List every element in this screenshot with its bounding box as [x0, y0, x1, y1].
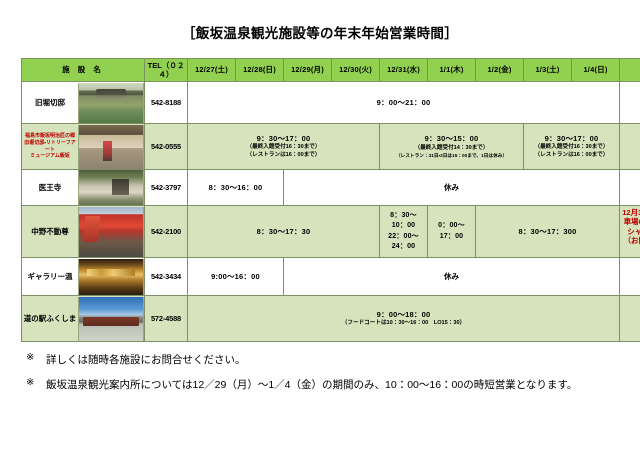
facility-tel: 542-3434: [145, 258, 188, 296]
hours-cell: 9：30～15：00（最終入館受付14：30まで）（レストラン：31日・2日は1…: [380, 124, 524, 170]
facility-name: 中野不動尊: [22, 227, 78, 236]
remarks-cell: [620, 296, 640, 342]
hours-cell: 9：30～17：00（最終入館受付16：30まで）（レストランは16：00まで）: [524, 124, 620, 170]
facility-tel: 572-4588: [145, 296, 188, 342]
header-facility: 施 設 名: [22, 59, 145, 82]
hours-cell: 8：30～10：0022：00～24：00: [380, 206, 428, 258]
facility-photo: [78, 170, 144, 206]
hours-subnote: （レストランは16：00まで）: [524, 152, 619, 159]
facility-photo: [78, 207, 144, 257]
remarks-cell: 通常営業: [620, 82, 640, 124]
hours-subnote: （フードコートは10：30～16：00 LO15：30）: [188, 320, 619, 327]
facility-photo: [78, 259, 144, 295]
hours-subnote: （最終入館受付14：30まで）: [380, 145, 523, 152]
header-date-5: 1/1(木): [428, 59, 476, 82]
table-body: 旧堀切邸542-81889：00～21：00通常営業福島市飯坂明治匠の郷旧堀切邸…: [22, 82, 640, 342]
facility-tel: 542-3797: [145, 170, 188, 206]
hours-cell: 9:00～16：00: [188, 258, 284, 296]
facility-cell: 中野不動尊: [22, 206, 145, 258]
hours-subnote: （レストランは16：00まで）: [188, 152, 379, 159]
header-date-0: 12/27(土): [188, 59, 236, 82]
table-row: 福島市飯坂明治匠の郷旧堀切邸・リトリーフアートミュージアム飯坂542-05559…: [22, 124, 640, 170]
hours-subnote: （最終入館受付16：30まで）: [524, 144, 619, 151]
hours-cell: 0：00～17：00: [428, 206, 476, 258]
header-date-4: 12/31(水): [380, 59, 428, 82]
facility-photo: [78, 297, 144, 341]
facility-tel: 542-2100: [145, 206, 188, 258]
hours-cell: 9：30～17：00（最終入館受付16：30まで）（レストランは16：00まで）: [188, 124, 380, 170]
footnote-mark: ※: [26, 352, 46, 363]
facility-tel: 542-0555: [145, 124, 188, 170]
table-row: ギャラリー温542-34349:00～16：00休み: [22, 258, 640, 296]
hours-cell: 9：00～18：00（フードコートは10：30～16：00 LO15：30）: [188, 296, 620, 342]
table-header: 施 設 名 TEL（０２４） 12/27(土) 12/28(日) 12/29(月…: [22, 59, 640, 82]
page-title: ［飯坂温泉観光施設等の年末年始営業時間］: [182, 22, 458, 42]
header-date-6: 1/2(金): [476, 59, 524, 82]
facility-cell: 福島市飯坂明治匠の郷旧堀切邸・リトリーフアートミュージアム飯坂: [22, 124, 145, 170]
closed-cell: 休み: [284, 258, 620, 296]
facility-name: 医王寺: [22, 183, 78, 192]
header-date-3: 12/30(火): [332, 59, 380, 82]
table-row: 旧堀切邸542-81889：00～21：00通常営業: [22, 82, 640, 124]
facility-name: 福島市飯坂明治匠の郷旧堀切邸・リトリーフアートミュージアム飯坂: [22, 133, 78, 160]
footnote-mark: ※: [26, 377, 46, 388]
footnote: ※飯坂温泉観光案内所については12／29（月）～1／4（金）の期間のみ、10：0…: [26, 377, 616, 392]
hours-cell: 9：00～21：00: [188, 82, 620, 124]
footnotes: ※詳しくは随時各施設にお問合せください。※飯坂温泉観光案内所については12／29…: [26, 352, 616, 402]
hours-subnote: （レストラン：31日・2日は15：00まで、1日は休み）: [380, 153, 523, 159]
footnote-text: 詳しくは随時各施設にお問合せください。: [46, 352, 616, 367]
schedule-table: 施 設 名 TEL（０２４） 12/27(土) 12/28(日) 12/29(月…: [21, 58, 640, 342]
facility-cell: 道の駅ふくしま: [22, 296, 145, 342]
page-root: ［飯坂温泉観光施設等の年末年始営業時間］ 施 設 名 TEL（０２４） 12/2…: [0, 0, 640, 453]
hours-cell: 8：30～17：300: [476, 206, 620, 258]
facility-photo: [78, 125, 144, 169]
facility-cell: 旧堀切邸: [22, 82, 145, 124]
hours-cell: 8：30～17：30: [188, 206, 380, 258]
facility-cell: 医王寺: [22, 170, 145, 206]
closed-cell: 休み: [284, 170, 620, 206]
table-row: 中野不動尊542-21008：30～17：308：30～10：0022：00～2…: [22, 206, 640, 258]
header-remarks: 備 考: [620, 59, 640, 82]
page-title-wrap: ［飯坂温泉観光施設等の年末年始営業時間］: [0, 22, 640, 43]
hours-subnote: （最終入館受付16：30まで）: [188, 144, 379, 151]
remarks-cell: 12月31日～1月3日は臨時駐車場の十六沼公園より無料シャトルバスが臨時運行（お…: [620, 206, 640, 258]
hours-cell: 8：30～16：00: [188, 170, 284, 206]
facility-name: 旧堀切邸: [22, 98, 78, 107]
footnote: ※詳しくは随時各施設にお問合せください。: [26, 352, 616, 367]
header-row: 施 設 名 TEL（０２４） 12/27(土) 12/28(日) 12/29(月…: [22, 59, 640, 82]
header-date-8: 1/4(日): [572, 59, 620, 82]
remarks-cell: [620, 170, 640, 206]
facility-name: ギャラリー温: [22, 272, 78, 281]
table-row: 医王寺542-37978：30～16：00休み: [22, 170, 640, 206]
schedule-table-wrap: 施 設 名 TEL（０２４） 12/27(土) 12/28(日) 12/29(月…: [21, 58, 619, 342]
footnote-text: 飯坂温泉観光案内所については12／29（月）～1／4（金）の期間のみ、10：00…: [46, 377, 616, 392]
facility-name: 道の駅ふくしま: [22, 314, 78, 323]
facility-cell: ギャラリー温: [22, 258, 145, 296]
remarks-cell: [620, 124, 640, 170]
remarks-cell: [620, 258, 640, 296]
header-date-7: 1/3(土): [524, 59, 572, 82]
header-date-1: 12/28(日): [236, 59, 284, 82]
header-tel: TEL（０２４）: [145, 59, 188, 82]
facility-tel: 542-8188: [145, 82, 188, 124]
table-row: 道の駅ふくしま572-45889：00～18：00（フードコートは10：30～1…: [22, 296, 640, 342]
facility-photo: [78, 83, 144, 123]
header-date-2: 12/29(月): [284, 59, 332, 82]
